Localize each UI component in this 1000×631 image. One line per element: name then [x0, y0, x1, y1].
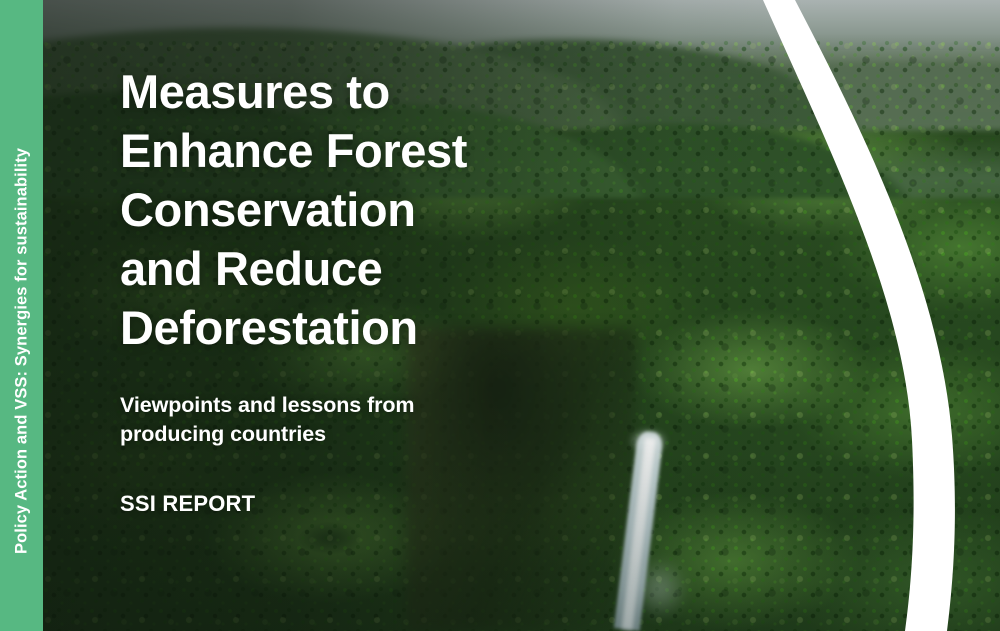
series-title: Policy Action and VSS: Synergies for sus…	[12, 148, 31, 554]
series-spine: Policy Action and VSS: Synergies for sus…	[0, 0, 43, 631]
page-subtitle: Viewpoints and lessons from producing co…	[120, 357, 520, 449]
page-title: Measures to Enhance Forest Conservation …	[120, 62, 590, 357]
report-type-label: SSI REPORT	[120, 449, 590, 517]
title-line-3: Conservation	[120, 183, 416, 236]
title-line-5: Deforestation	[120, 301, 418, 354]
title-line-1: Measures to	[120, 65, 390, 118]
report-cover: Policy Action and VSS: Synergies for sus…	[0, 0, 1000, 631]
title-line-2: Enhance Forest	[120, 124, 467, 177]
cover-text-block: Measures to Enhance Forest Conservation …	[120, 62, 590, 517]
title-line-4: and Reduce	[120, 242, 382, 295]
